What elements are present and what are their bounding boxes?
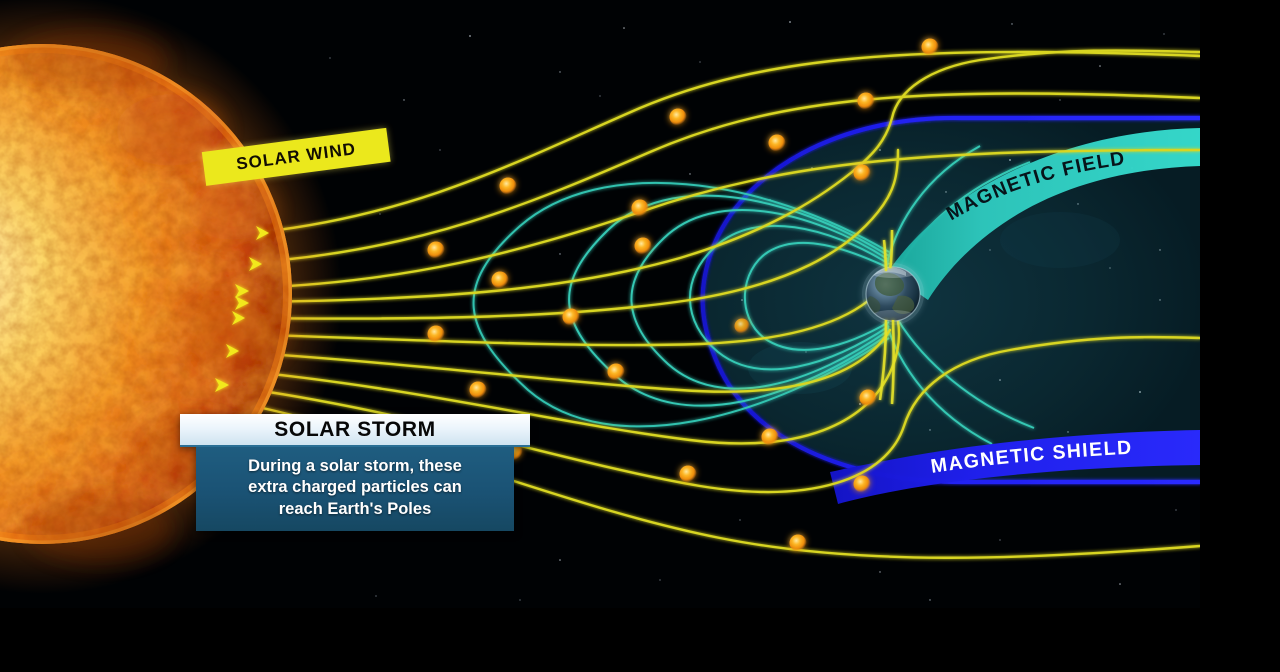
particle: [670, 109, 687, 126]
caption-line-2: extra charged particles can: [206, 477, 504, 498]
particle: [854, 476, 871, 493]
caption-title: SOLAR STORM: [274, 418, 435, 442]
particle: [762, 429, 779, 446]
particle: [470, 382, 487, 399]
particle: [858, 93, 875, 110]
particle: [500, 178, 517, 195]
particle: [492, 272, 509, 289]
particle: [563, 309, 580, 326]
particle: [680, 466, 697, 483]
particle: [860, 390, 877, 407]
particle: [428, 326, 445, 343]
particle: [790, 535, 807, 552]
particle: [735, 319, 750, 334]
solar-storm-illustration: SOLAR WIND MAGNETIC FIELD MAGNETIC SHIEL…: [0, 0, 1200, 608]
particle: [632, 200, 649, 217]
caption-line-1: During a solar storm, these: [206, 456, 504, 477]
particle: [635, 238, 652, 255]
earth: [862, 263, 924, 325]
solar-storm-caption: SOLAR STORM During a solar storm, these …: [180, 414, 530, 531]
caption-title-bar: SOLAR STORM: [180, 414, 530, 447]
caption-line-3: reach Earth's Poles: [206, 499, 504, 520]
particle: [854, 165, 871, 182]
particle: [608, 364, 625, 381]
screenshot-root: SOLAR WIND MAGNETIC FIELD MAGNETIC SHIEL…: [0, 0, 1280, 672]
particle: [769, 135, 786, 152]
particle: [922, 39, 939, 56]
particle: [428, 242, 445, 259]
caption-body: During a solar storm, these extra charge…: [196, 447, 514, 531]
